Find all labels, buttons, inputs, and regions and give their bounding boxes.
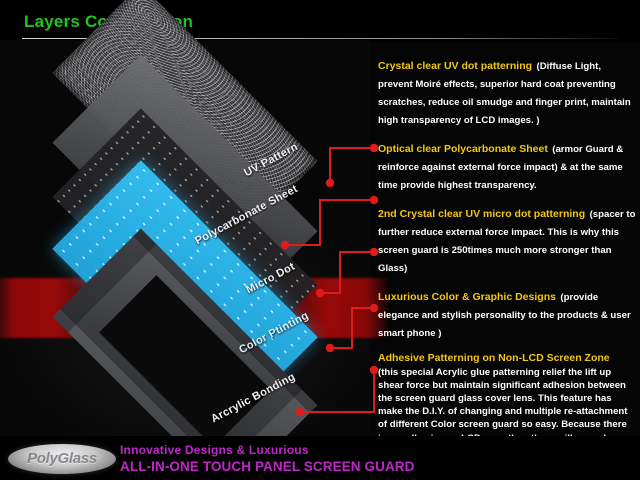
description-column: Crystal clear UV dot patterning (Diffuse… [378, 56, 636, 469]
description-heading-adhesive: Adhesive Patterning on Non-LCD Screen Zo… [378, 352, 636, 366]
tagline-line-1: Innovative Designs & Luxurious [120, 443, 309, 457]
connector-dot-bond-end [371, 367, 377, 373]
layers-diagram: UV Pattern Polycarbonate Sheet Micro Dot… [0, 40, 370, 440]
description-heading-micro-dot-ordinal: nd [384, 208, 397, 220]
description-heading-micro-dot: Crystal clear UV micro dot patterning [397, 208, 585, 220]
connector-dot-microdot-end [371, 249, 377, 255]
description-block-uv-dot: Crystal clear UV dot patterning (Diffuse… [378, 56, 636, 128]
description-heading-polycarbonate: Optical clear Polycarbonate Sheet [378, 143, 548, 155]
description-block-color-graphic: Luxurious Color & Graphic Designs (provi… [378, 287, 636, 341]
polyglass-logo: PolyGlass [8, 444, 116, 474]
slide-canvas: Layers Construction UV Pattern Polycarbo… [0, 0, 640, 480]
connector-dot-poly-end [371, 197, 377, 203]
connector-dot-uv-end [371, 145, 377, 151]
description-heading-uv-dot: Crystal clear UV dot patterning [378, 60, 532, 72]
description-block-polycarbonate: Optical clear Polycarbonate Sheet (armor… [378, 139, 636, 193]
description-heading-color-graphic: Luxurious Color & Graphic Designs [378, 291, 556, 303]
description-block-micro-dot: 2nd Crystal clear UV micro dot patternin… [378, 204, 636, 276]
tagline-line-2: ALL-IN-ONE TOUCH PANEL SCREEN GUARD [120, 459, 415, 474]
logo-text: PolyGlass [8, 444, 116, 474]
